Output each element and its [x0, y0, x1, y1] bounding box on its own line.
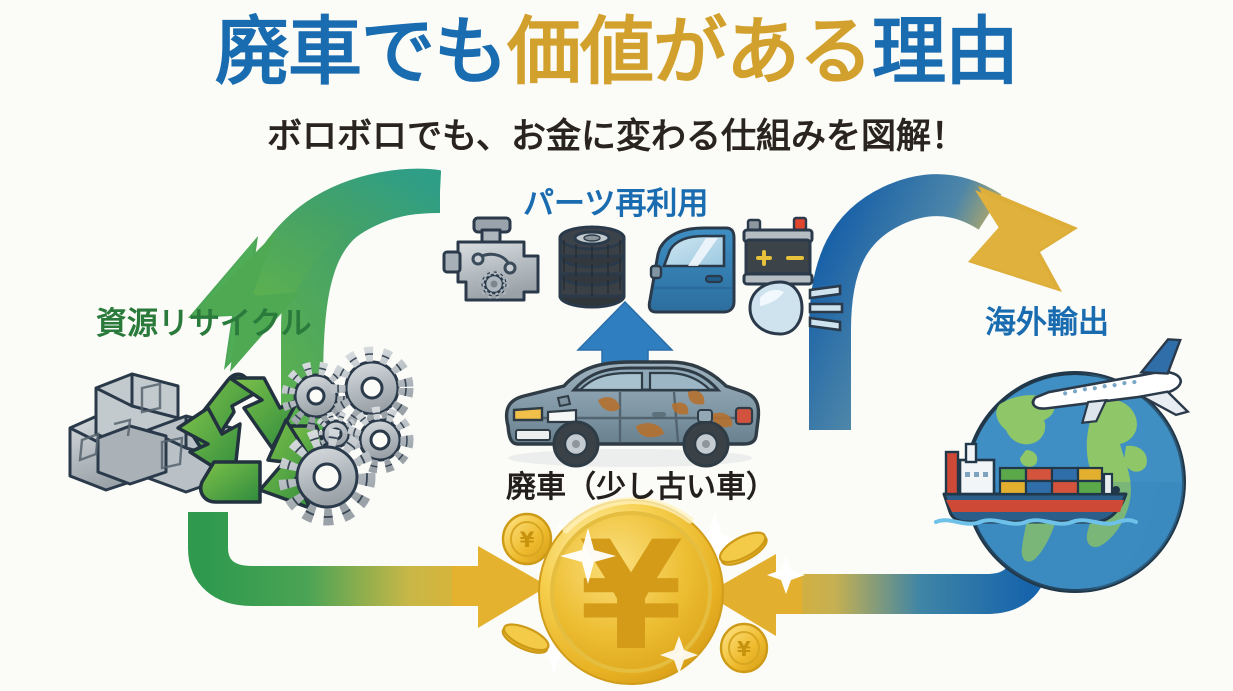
- engine-icon: [444, 218, 538, 300]
- page-title: 廃車でも価値がある理由: [0, 14, 1233, 92]
- headlight-icon: [750, 282, 842, 334]
- infographic-canvas: ¥ ¥ ¥ 廃車でも価値がある: [0, 0, 1233, 691]
- infographic-artwork: ¥ ¥ ¥: [0, 0, 1233, 691]
- small-coin: ¥: [721, 624, 767, 672]
- car-door-icon: [649, 228, 734, 312]
- section-label-parts: パーツ再利用: [523, 178, 708, 223]
- title-segment-3: 理由: [872, 14, 1018, 92]
- arrow-recycle-to-money: [208, 512, 548, 628]
- battery-icon: [744, 218, 812, 284]
- title-segment-2: 価値がある: [507, 14, 872, 92]
- caption-scrap-car: 廃車（少し古い車）: [506, 462, 776, 506]
- small-coin: ¥: [503, 514, 551, 564]
- small-coin: [499, 619, 551, 658]
- section-label-export: 海外輸出: [985, 297, 1109, 342]
- tire-stack-icon: [560, 227, 624, 307]
- old-car-icon: [507, 362, 759, 467]
- page-subtitle: ボロボロでも、お金に変わる仕組みを図解！: [0, 108, 1233, 159]
- section-label-recycle: 資源リサイクル: [96, 298, 311, 343]
- svg-text:¥: ¥: [520, 528, 535, 552]
- svg-text:¥: ¥: [737, 637, 751, 661]
- title-segment-1: 廃車でも: [215, 14, 507, 92]
- arrow-export-to-money: [706, 546, 1028, 636]
- yen-symbol: ¥: [579, 510, 683, 684]
